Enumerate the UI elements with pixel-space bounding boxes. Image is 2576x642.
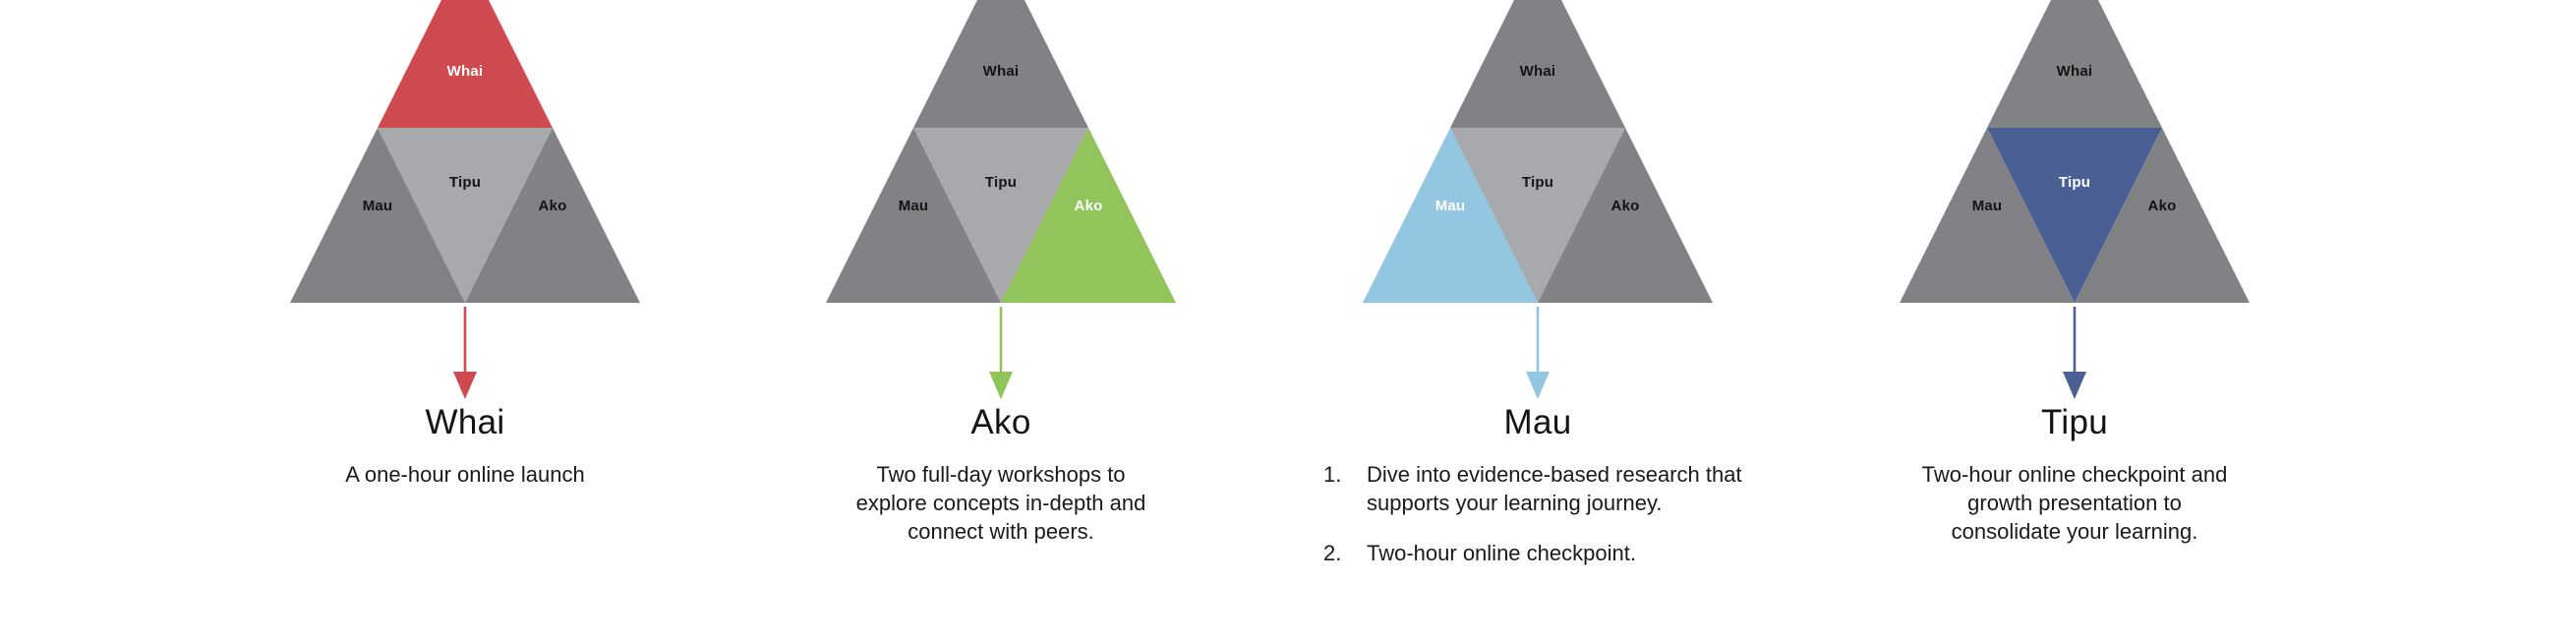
arrow-svg (445, 307, 485, 401)
triangle-segment-label-bottom_right: Ako (2148, 198, 2177, 214)
triangle-svg: WhaiTipuMauAko (1363, 0, 1713, 303)
triangle-segment-label-bottom_left: Mau (1435, 198, 1466, 214)
list-item: 2.Two-hour online checkpoint. (1323, 539, 1768, 567)
stage-title-tipu: Tipu (1799, 405, 2350, 439)
stage-title-ako: Ako (726, 405, 1276, 439)
triangle-svg: WhaiTipuMauAko (290, 0, 640, 303)
diagram-board: WhaiTipuMauAkoWhaiA one-hour online laun… (0, 0, 2576, 642)
list-item-text: Two-hour online checkpoint. (1367, 541, 1636, 565)
arrow-svg (1518, 307, 1557, 401)
stage-caption-tipu: Two-hour online checkpoint andgrowth pre… (1799, 460, 2350, 546)
down-arrow-ako (981, 307, 1021, 401)
caption-line: explore concepts in-depth and (783, 489, 1219, 517)
triangle-segment-label-bottom_right: Ako (539, 198, 567, 214)
list-item: 1.Dive into evidence-based research that… (1323, 460, 1768, 517)
stage-caption-whai: A one-hour online launch (190, 460, 740, 489)
caption-line: consolidate your learning. (1856, 517, 2293, 546)
triangle-diagram-ako: WhaiTipuMauAko (826, 0, 1176, 303)
caption-line: growth presentation to (1856, 489, 2293, 517)
triangle-diagram-tipu: WhaiTipuMauAko (1900, 0, 2250, 303)
triangle-segment-label-bottom_right: Ako (1075, 198, 1103, 214)
arrow-head (453, 372, 477, 399)
triangle-segment-label-top: Whai (447, 63, 484, 80)
triangle-segment-label-center: Tipu (1522, 174, 1553, 191)
triangle-svg: WhaiTipuMauAko (826, 0, 1176, 303)
triangle-segment-label-center: Tipu (985, 174, 1017, 191)
list-item-number: 2. (1323, 539, 1357, 567)
down-arrow-mau (1518, 307, 1557, 401)
triangle-svg: WhaiTipuMauAko (1900, 0, 2250, 303)
triangle-diagram-whai: WhaiTipuMauAko (290, 0, 640, 303)
stage-column-mau: WhaiTipuMauAkoMau1.Dive into evidence-ba… (1262, 0, 1813, 642)
triangle-segment-label-top: Whai (983, 63, 1020, 80)
caption-line: connect with peers. (783, 517, 1219, 546)
triangle-segment-label-center: Tipu (449, 174, 481, 191)
triangle-segment-label-top: Whai (1520, 63, 1556, 80)
down-arrow-tipu (2055, 307, 2094, 401)
arrow-head (2063, 372, 2086, 399)
triangle-segment-label-bottom_right: Ako (1611, 198, 1640, 214)
stage-column-whai: WhaiTipuMauAkoWhaiA one-hour online laun… (190, 0, 740, 642)
arrow-svg (981, 307, 1021, 401)
triangle-diagram-mau: WhaiTipuMauAko (1363, 0, 1713, 303)
stage-title-whai: Whai (190, 405, 740, 439)
caption-numbered-list: 1.Dive into evidence-based research that… (1323, 460, 1768, 567)
caption-line: Two full-day workshops to (783, 460, 1219, 489)
triangle-segment-label-bottom_left: Mau (363, 198, 393, 214)
stage-caption-mau: 1.Dive into evidence-based research that… (1262, 460, 1813, 567)
triangle-segment-label-top: Whai (2057, 63, 2093, 80)
stage-title-mau: Mau (1262, 405, 1813, 439)
down-arrow-whai (445, 307, 485, 401)
caption-line: Two-hour online checkpoint and (1856, 460, 2293, 489)
stage-column-tipu: WhaiTipuMauAkoTipuTwo-hour online checkp… (1799, 0, 2350, 642)
arrow-head (989, 372, 1013, 399)
caption-line: A one-hour online launch (247, 460, 683, 489)
triangle-segment-label-center: Tipu (2059, 174, 2090, 191)
arrow-svg (2055, 307, 2094, 401)
list-item-text: Dive into evidence-based research that s… (1367, 462, 1742, 515)
arrow-head (1526, 372, 1550, 399)
stage-caption-ako: Two full-day workshops toexplore concept… (726, 460, 1276, 546)
triangle-segment-label-bottom_left: Mau (899, 198, 929, 214)
triangle-segment-label-bottom_left: Mau (1972, 198, 2003, 214)
list-item-number: 1. (1323, 460, 1357, 489)
stage-column-ako: WhaiTipuMauAkoAkoTwo full-day workshops … (726, 0, 1276, 642)
